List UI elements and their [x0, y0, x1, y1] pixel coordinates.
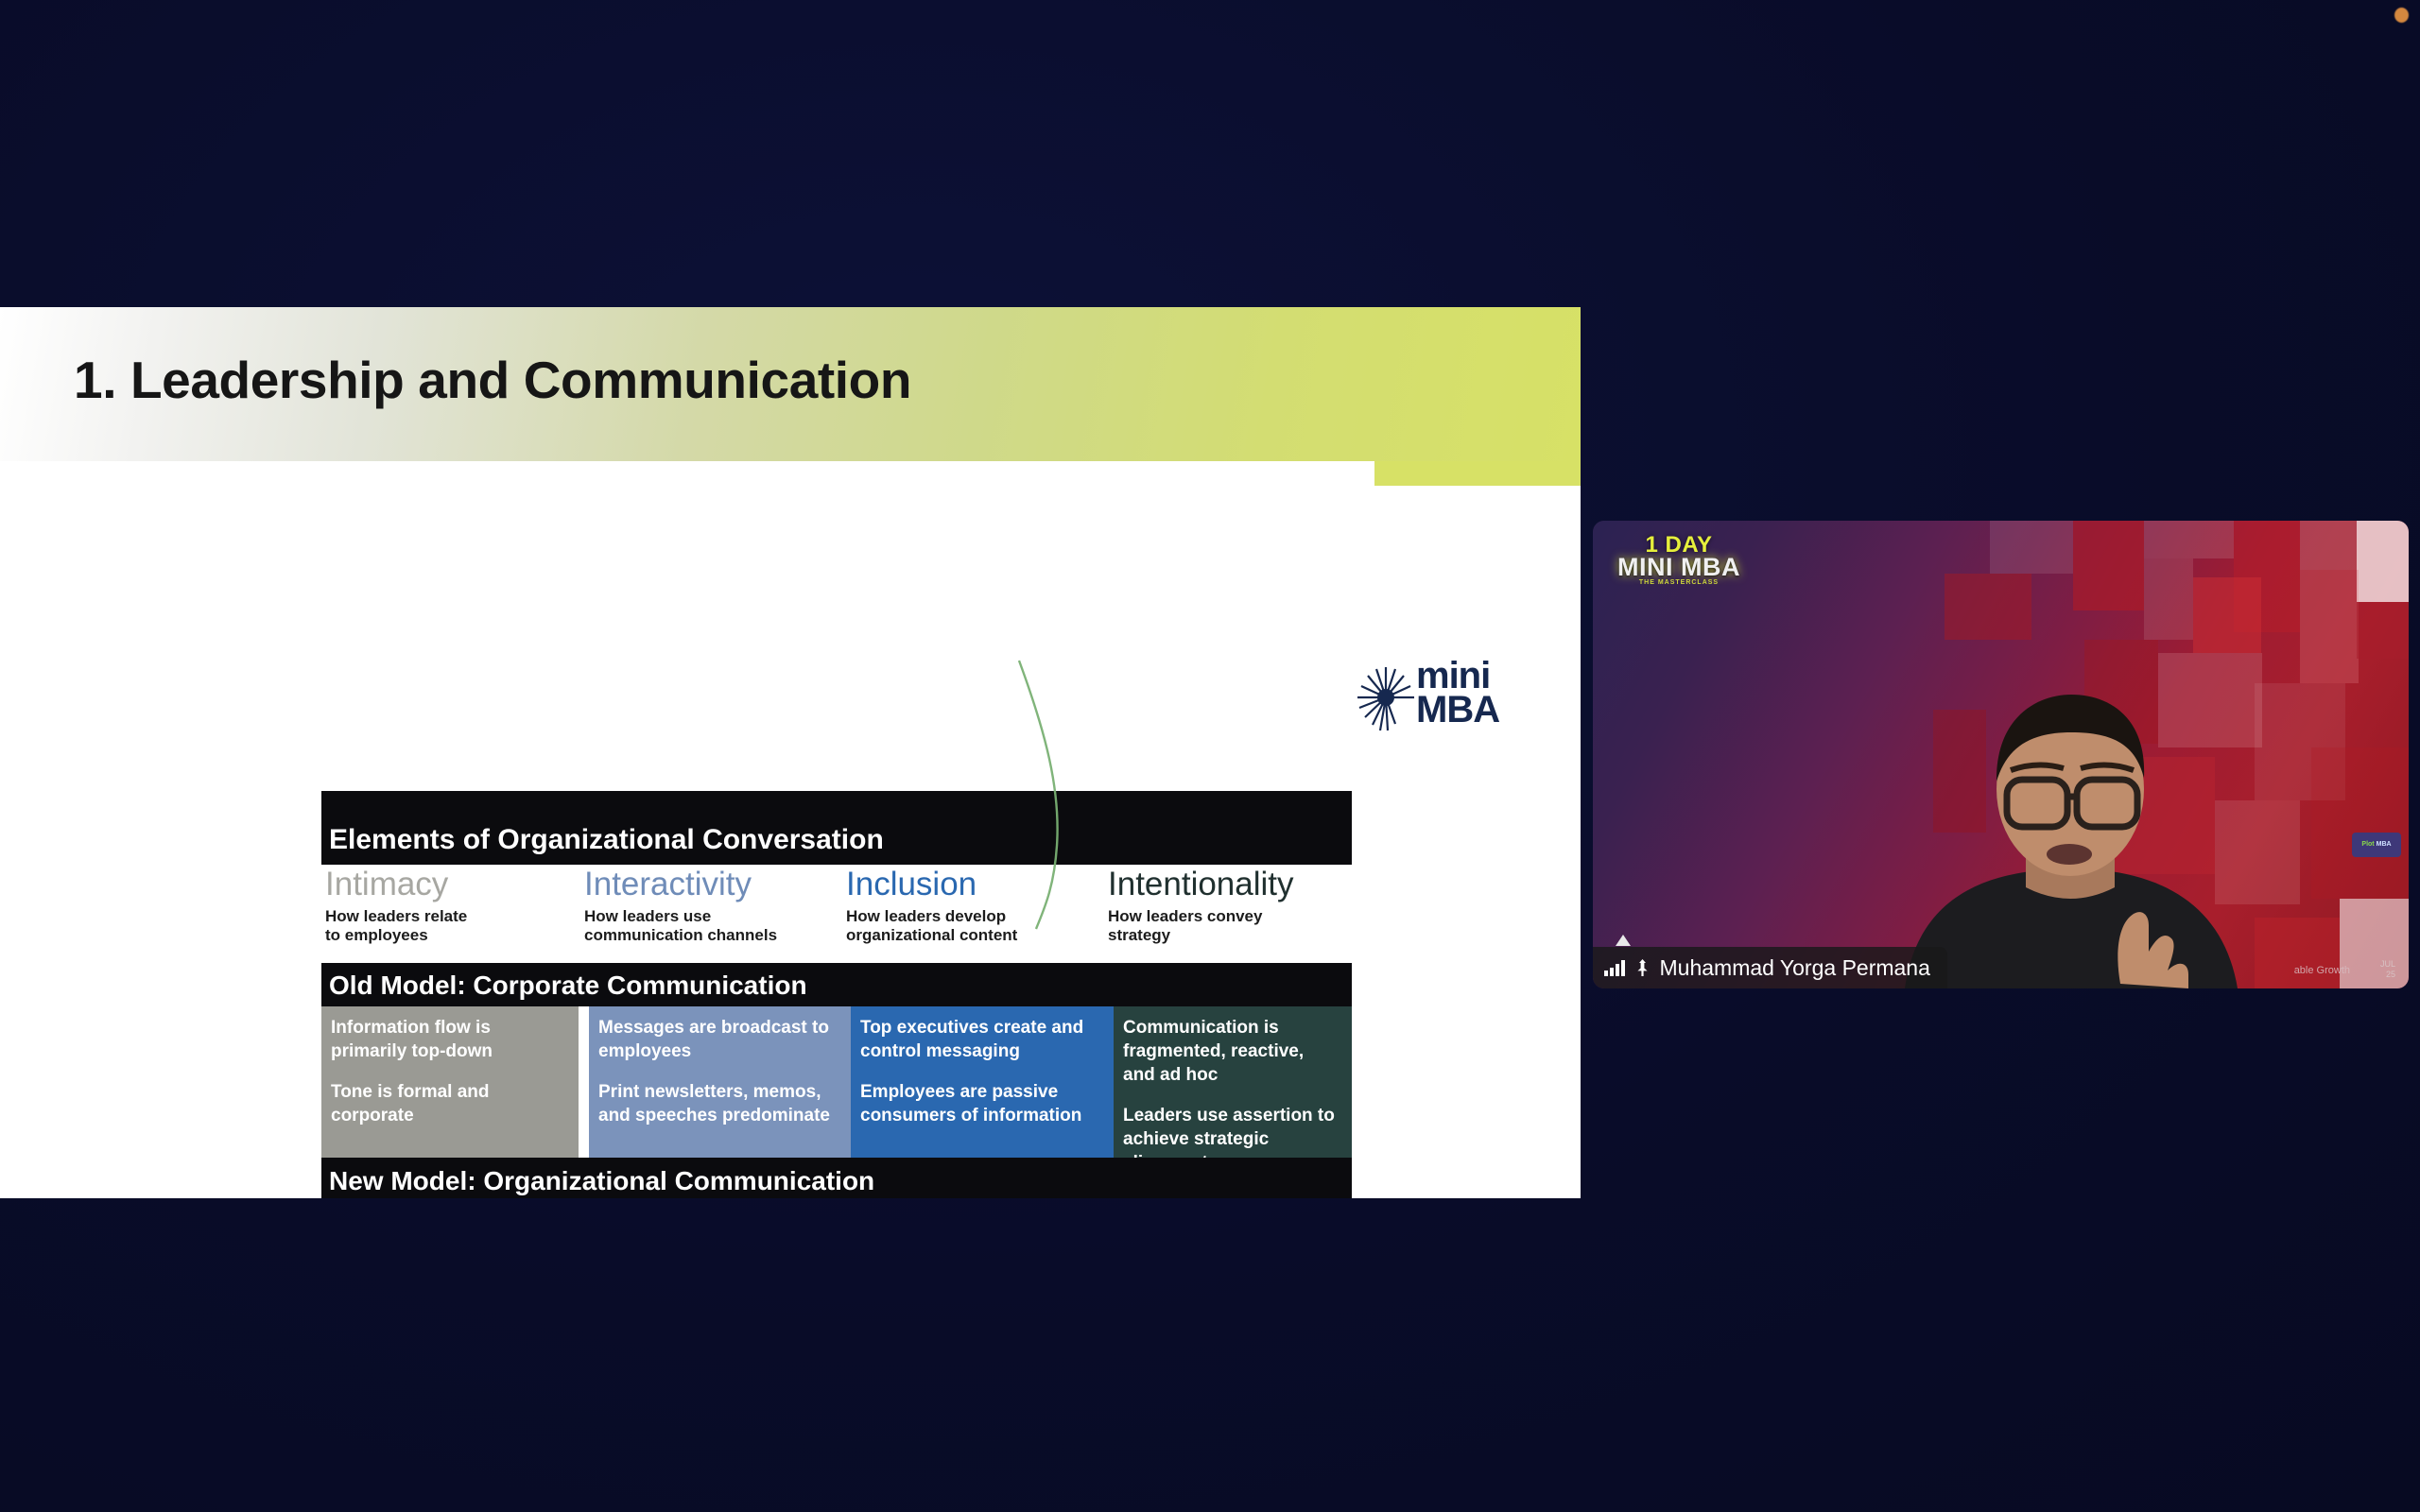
- badge-line1: Plot: [2361, 841, 2374, 849]
- element-col-interactivity: Interactivity How leaders use communicat…: [584, 867, 802, 945]
- badge-line2: MBA: [2377, 841, 2392, 849]
- old-cell-interactivity: Messages are broadcast to employeesPrint…: [589, 1006, 851, 1158]
- minimba-logo: mini MBA: [1354, 661, 1524, 735]
- participant-name: Muhammad Yorga Permana: [1660, 955, 1930, 981]
- element-name: Intentionality: [1108, 867, 1344, 902]
- presenter-figure: [1867, 691, 2264, 988]
- cell-paragraph: Messages are broadcast to employees: [598, 1016, 839, 1063]
- starburst-icon: [1354, 665, 1418, 731]
- decorative-curve: [1002, 657, 1134, 931]
- screen-root: 1. Leadership and Communication: [0, 0, 2420, 1512]
- signal-bars-icon: [1604, 960, 1625, 976]
- cell-paragraph: Print newsletters, memos, and speeches p…: [598, 1080, 839, 1127]
- event-logo-overlay: 1 DAY MINI MBA THE MASTERCLASS: [1617, 535, 1740, 590]
- slide-header-underband: [0, 461, 1581, 486]
- graphic-title: Elements of Organizational Conversation: [329, 824, 884, 856]
- old-cell-inclusion: Top executives create and control messag…: [851, 1006, 1114, 1158]
- video-bg-slide-text: able Growth: [2294, 965, 2350, 976]
- presentation-slide[interactable]: 1. Leadership and Communication: [0, 307, 1581, 1198]
- element-name: Interactivity: [584, 867, 802, 902]
- element-name: Intimacy: [325, 867, 481, 902]
- new-model-band: New Model: Organizational Communication: [321, 1158, 1352, 1198]
- cell-paragraph: Communication is fragmented, reactive, a…: [1123, 1016, 1340, 1087]
- old-model-row: Information flow is primarily top-downTo…: [321, 1006, 1352, 1158]
- pin-icon: [1634, 958, 1651, 977]
- graphic-title-band: Elements of Organizational Conversation: [321, 791, 1352, 865]
- slide-header-accent-tail: [1374, 461, 1581, 486]
- old-cell-intimacy: Information flow is primarily top-downTo…: [321, 1006, 579, 1158]
- element-col-intimacy: Intimacy How leaders relate to employees: [325, 867, 481, 945]
- element-col-intentionality: Intentionality How leaders convey strate…: [1108, 867, 1344, 945]
- elements-header-row: Intimacy How leaders relate to employees…: [321, 865, 1352, 963]
- old-cell-intentionality: Communication is fragmented, reactive, a…: [1114, 1006, 1352, 1158]
- video-corner-badge: Plot MBA: [2352, 833, 2401, 857]
- status-dot: [2394, 8, 2409, 23]
- video-bg-slide-date: JUL 25: [2380, 959, 2395, 980]
- minimba-logo-line1: mini: [1416, 660, 1499, 692]
- cell-paragraph: Employees are passive consumers of infor…: [860, 1080, 1102, 1127]
- org-conversation-graphic: Elements of Organizational Conversation …: [321, 791, 1352, 1198]
- element-desc: How leaders use communication channels: [584, 907, 802, 945]
- pin-arrow-icon: [1615, 934, 1632, 947]
- cell-paragraph: Information flow is primarily top-down: [331, 1016, 567, 1063]
- new-model-label: New Model: Organizational Communication: [329, 1166, 874, 1196]
- old-model-label: Old Model: Corporate Communication: [329, 971, 807, 1001]
- element-desc: How leaders relate to employees: [325, 907, 481, 945]
- minimba-logo-line2: MBA: [1416, 692, 1499, 728]
- element-desc: How leaders convey strategy: [1108, 907, 1344, 945]
- participant-video-tile[interactable]: 1 DAY MINI MBA THE MASTERCLASS Plot MBA …: [1593, 521, 2409, 988]
- minimba-logo-text: mini MBA: [1416, 660, 1499, 728]
- cell-paragraph: Top executives create and control messag…: [860, 1016, 1102, 1063]
- event-logo-main: MINI MBA: [1617, 556, 1740, 579]
- old-model-band: Old Model: Corporate Communication: [321, 963, 1352, 1006]
- cell-paragraph: Tone is formal and corporate: [331, 1080, 567, 1127]
- participant-name-bar: Muhammad Yorga Permana: [1593, 947, 1947, 988]
- page-title: 1. Leadership and Communication: [74, 350, 911, 410]
